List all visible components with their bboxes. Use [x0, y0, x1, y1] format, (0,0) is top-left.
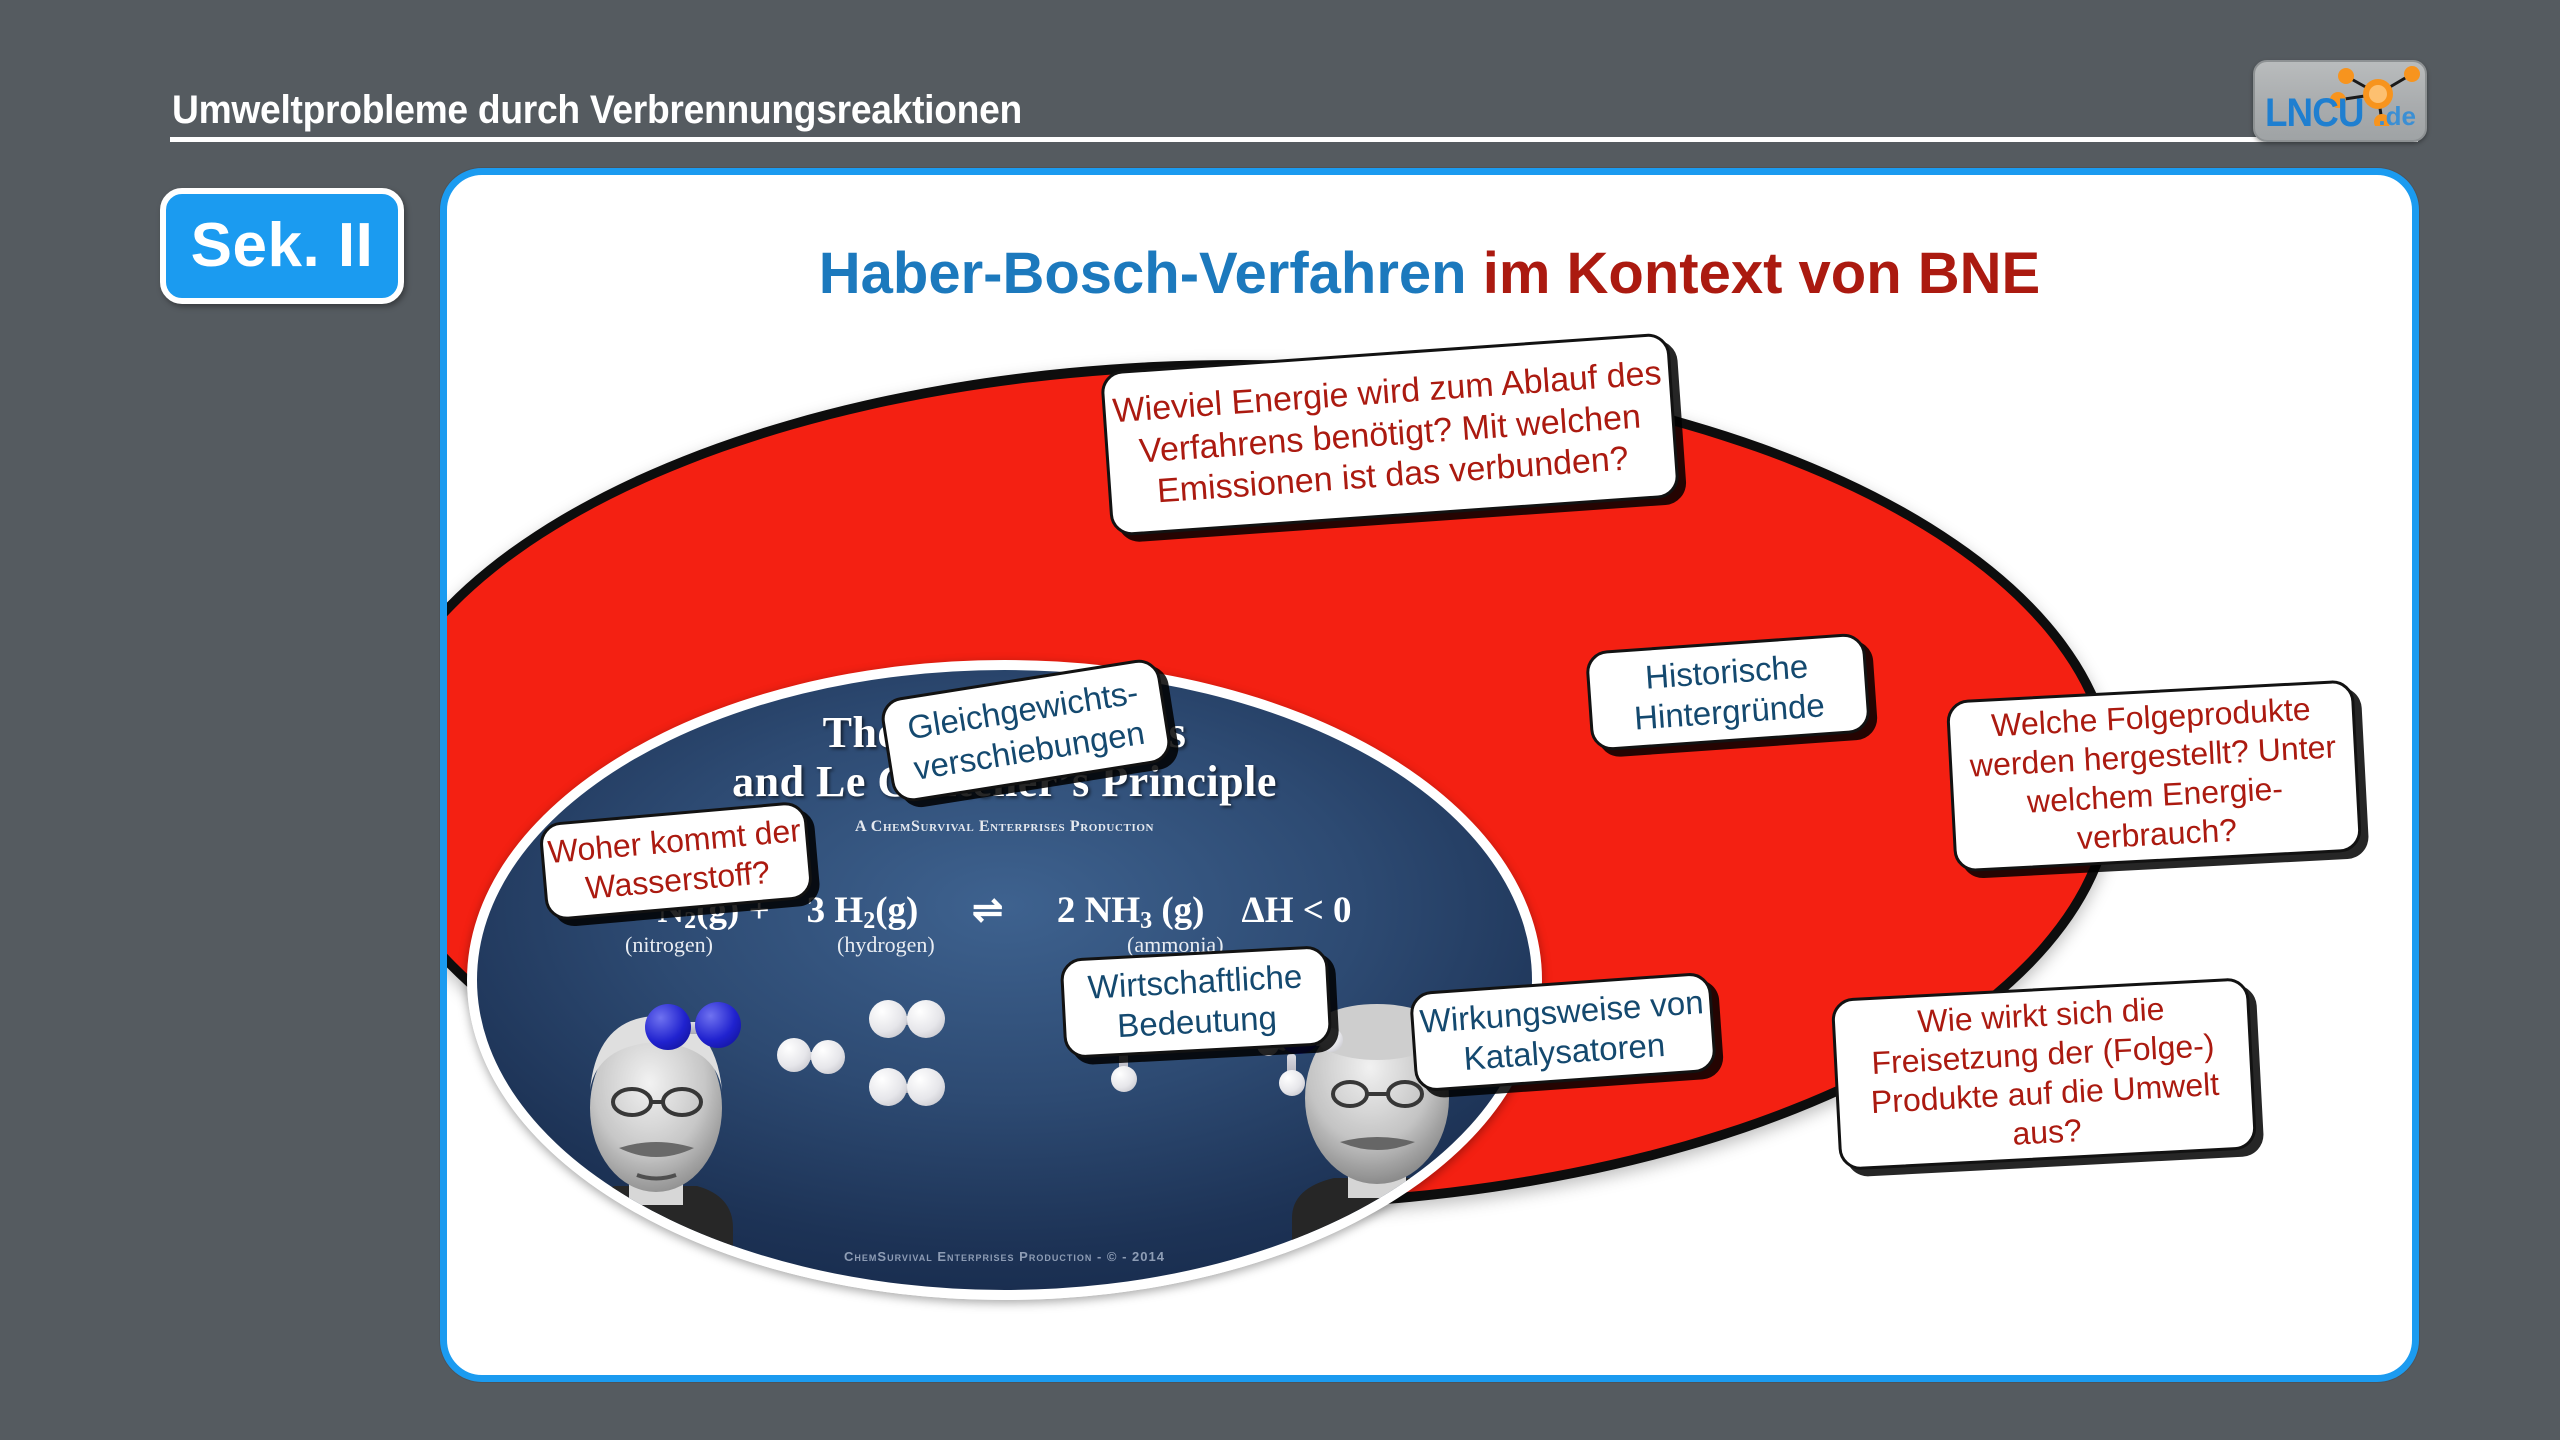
label-nitrogen: (nitrogen) [625, 932, 713, 958]
equation-enthalpy: ΔH < 0 [1242, 890, 1352, 931]
logo-tld: .de [2378, 101, 2416, 132]
callout-wasserstoff-text: Woher kommt der Wasserstoff? [542, 811, 810, 912]
callout-folgeprodukte[interactable]: Welche Folgeprodukte werden hergestellt?… [1946, 679, 2362, 872]
callout-energie-text: Wieviel Energie wird zum Ablauf des Verf… [1104, 353, 1675, 516]
equilibrium-arrow-icon: ⇌ [928, 888, 1048, 932]
callout-folgeprodukte-text: Welche Folgeprodukte werden hergestellt?… [1949, 688, 2359, 865]
callout-wirtschaftliche-bedeutung[interactable]: Wirtschaftliche Bedeutung [1060, 945, 1333, 1059]
page-title: Umweltprobleme durch Verbrennungsreaktio… [172, 88, 1022, 133]
level-badge[interactable]: Sek. II [160, 188, 404, 304]
level-badge-label: Sek. II [191, 215, 374, 277]
slide-title: Haber-Bosch-Verfahren im Kontext von BNE [447, 245, 2412, 303]
callout-historisch-text: Historische Hintergründe [1589, 642, 1868, 741]
equation-product-nh3: 2 NH3 (g) [1057, 890, 1205, 931]
callout-historische-hintergruende[interactable]: Historische Hintergründe [1585, 632, 1871, 751]
slide-title-primary: Haber-Bosch-Verfahren [819, 241, 1483, 306]
label-hydrogen: (hydrogen) [837, 932, 935, 958]
header-divider [170, 137, 2418, 142]
slide-title-secondary: im Kontext von BNE [1483, 241, 2041, 306]
callout-umwelt-text: Wie wirkt sich die Freisetzung der (Folg… [1834, 985, 2254, 1162]
haber-image-footer: ChemSurvival Enterprises Production - © … [477, 1249, 1532, 1264]
callout-umwelt[interactable]: Wie wirkt sich die Freisetzung der (Folg… [1831, 977, 2257, 1171]
callout-katalysatoren[interactable]: Wirkungsweise von Katalysatoren [1409, 972, 1717, 1093]
logo-wordmark: LNCU [2265, 91, 2364, 136]
callout-katalysator-text: Wirkungsweise von Katalysatoren [1413, 982, 1714, 1083]
lncu-logo[interactable]: LNCU .de [2253, 60, 2427, 142]
callout-wirtschaft-text: Wirtschaftliche Bedeutung [1063, 955, 1329, 1049]
page-header: Umweltprobleme durch Verbrennungsreaktio… [0, 0, 2560, 150]
equation-reactant-h2: 3 H2(g) [807, 890, 919, 931]
